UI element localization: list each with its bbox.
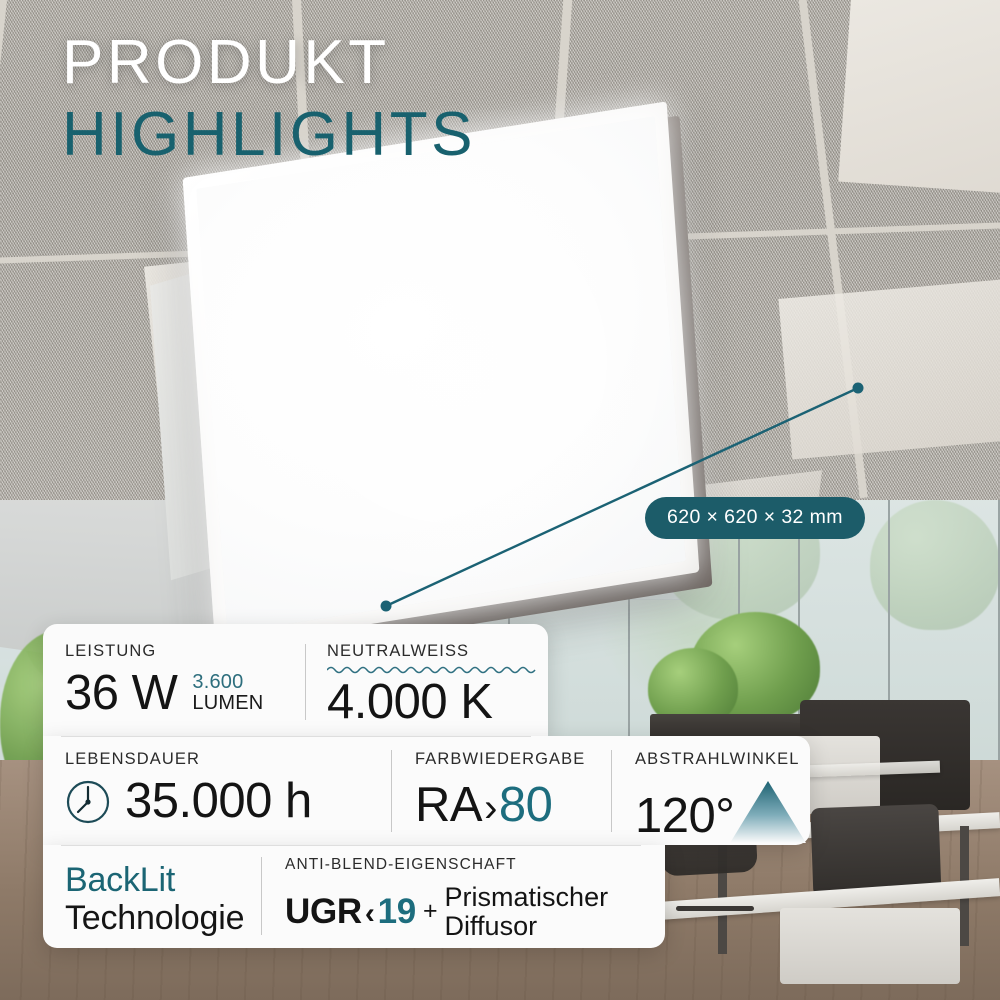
headline-line-2: HIGHLIGHTS — [62, 102, 476, 169]
spec-card-row-2: LEBENSDAUER 35.000 h FARBWIEDERGABE RA ›… — [43, 736, 810, 845]
panel-frame — [183, 101, 700, 648]
chair-base — [676, 906, 754, 911]
spec-anti-blend: ANTI-BLEND-EIGENSCHAFT UGR ‹ 19 + Prisma… — [285, 856, 608, 940]
spec-neutralweiss: NEUTRALWEISS 4.000 K — [327, 642, 492, 727]
headline-line-1: PRODUKT — [62, 30, 476, 96]
ugr-value: 19 — [378, 892, 416, 932]
spec-card-row-3: BackLit Technologie ANTI-BLEND-EIGENSCHA… — [43, 845, 665, 948]
spec-value: 120° — [635, 792, 734, 841]
backlit-title: BackLit — [65, 861, 244, 899]
spec-label: NEUTRALWEISS — [327, 642, 492, 661]
cell-divider — [611, 750, 612, 832]
wave-line-icon — [327, 664, 539, 676]
spec-label: ANTI-BLEND-EIGENSCHAFT — [285, 856, 608, 874]
row-divider — [61, 845, 641, 846]
spec-label: FARBWIEDERGABE — [415, 750, 585, 769]
backlit-subtitle: Technologie — [65, 899, 244, 937]
spec-value: 4.000 K — [327, 678, 492, 727]
desk-divider — [780, 908, 960, 984]
plus-sign: + — [423, 897, 438, 926]
ugr-symbol: ‹ — [365, 897, 375, 931]
cell-divider — [391, 750, 392, 832]
spec-label: LEISTUNG — [65, 642, 263, 661]
dimension-badge: 620 × 620 × 32 mm — [645, 497, 865, 539]
spec-farbwiedergabe: FARBWIEDERGABE RA › 80 — [415, 750, 585, 830]
spec-card-row-1: LEISTUNG 36 W 3.600 LUMEN NEUTRALWEISS 4… — [43, 624, 548, 736]
panel-diffuser-face — [196, 116, 685, 633]
ugr-prefix: UGR — [285, 892, 362, 932]
spec-value: 36 W — [65, 669, 177, 718]
cri-prefix: RA — [415, 781, 482, 830]
spec-abstrahlwinkel: ABSTRAHLWINKEL 120° — [635, 750, 808, 841]
led-panel-product — [183, 101, 700, 648]
clock-icon — [65, 779, 111, 825]
spec-lebensdauer: LEBENSDAUER 35.000 h — [65, 750, 312, 826]
page-title: PRODUKT HIGHLIGHTS — [62, 30, 476, 169]
cri-symbol: › — [484, 788, 497, 828]
spec-value: 35.000 h — [125, 777, 312, 826]
lumen-number: 3.600 — [192, 672, 263, 693]
beam-triangle-icon — [728, 779, 808, 845]
diffuser-line-1: Prismatischer — [445, 883, 609, 912]
product-highlight-image: 620 × 620 × 32 mm PRODUKT HIGHLIGHTS LEI… — [0, 0, 1000, 1000]
spec-label: LEBENSDAUER — [65, 750, 312, 769]
lumen-unit: LUMEN — [192, 693, 263, 714]
cri-value: 80 — [499, 781, 553, 830]
ceiling-tile — [779, 280, 1000, 460]
cell-divider — [261, 857, 262, 935]
spec-backlit-technologie: BackLit Technologie — [65, 861, 244, 937]
ceiling-tile — [838, 0, 1000, 198]
cell-divider — [305, 644, 306, 720]
spec-label: ABSTRAHLWINKEL — [635, 750, 808, 769]
spec-leistung: LEISTUNG 36 W 3.600 LUMEN — [65, 642, 263, 718]
diffuser-line-2: Diffusor — [445, 912, 609, 941]
row-divider — [61, 736, 531, 737]
